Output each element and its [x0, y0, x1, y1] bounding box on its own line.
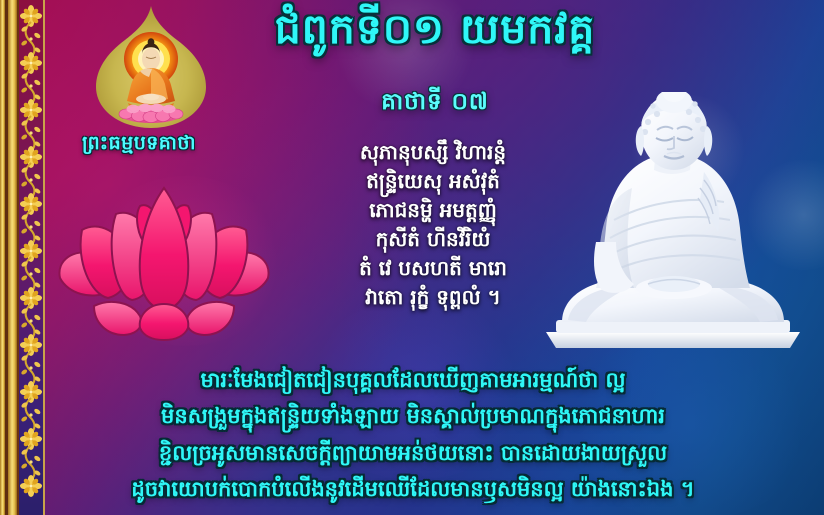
page-title: ជំពូកទី០១ យមកវគ្គ	[200, 6, 670, 53]
lotus-flower-graphic	[48, 182, 280, 342]
verse-line: ឥន្ទ្រិយេសុ អសំវុតំ	[268, 167, 598, 196]
verse-line: សុភានុបស្សឹ វិហារន្តំ	[268, 138, 598, 167]
translation-line: ដូចវាយោបក់បោកបំលើងនូវដើមឈើដែលមានឫសមិនល្អ…	[18, 471, 808, 507]
dhammapada-poster: ព្រះធម្មបទគាថា	[0, 0, 824, 515]
translation-line: មារៈមែងជៀតជៀនបុគ្គលដែលឃើញគាមអារម្មណ៍ថា ល…	[18, 362, 808, 398]
khmer-translation-block: មារៈមែងជៀតជៀនបុគ្គលដែលឃើញគាមអារម្មណ៍ថា ល…	[18, 362, 808, 507]
pali-verse-block: សុភានុបស្សឹ វិហារន្តំ ឥន្ទ្រិយេសុ អសំវុត…	[268, 138, 598, 312]
verse-line: កុសីតំ ហីនវីរិយំ	[268, 225, 598, 254]
verse-line: វាតោ រុក្ខំ ទុព្ពលំ ។	[268, 283, 598, 312]
gatha-number: គាថាទី ០៧	[250, 88, 620, 121]
dhammapada-label: ព្រះធម្មបទគាថា	[44, 131, 234, 159]
translation-line: មិនសង្រួមក្នុងឥន្ទ្រិយទាំងឡាយ មិនស្គាល់ប…	[18, 398, 808, 434]
verse-line: ភោជនម្ហិ អមត្តញ្ញុំ	[268, 196, 598, 225]
verse-line: តំ វេ បសហតី មារោ	[268, 254, 598, 283]
translation-line: ខ្ជិលច្រអូសមានសេចក្តីព្យាយាមអន់ថយនោះ បាន…	[18, 435, 808, 471]
